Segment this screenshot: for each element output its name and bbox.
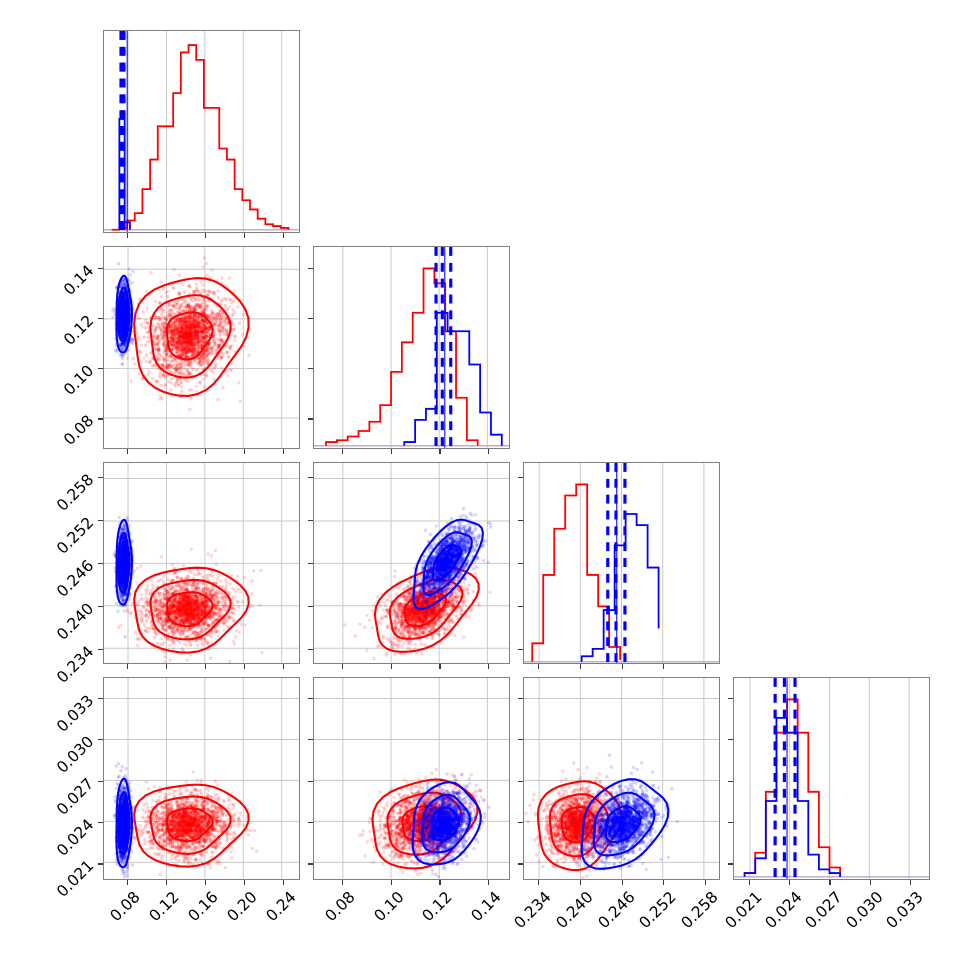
x-tick <box>205 233 206 238</box>
x-tick <box>127 449 128 454</box>
y-tick <box>98 606 103 607</box>
y-tick <box>98 477 103 478</box>
scatter-panel-r4c2 <box>313 677 510 880</box>
x-tick <box>205 880 206 885</box>
y-tick <box>308 268 313 269</box>
y-tick <box>518 477 523 478</box>
y-tick <box>308 477 313 478</box>
y-tick <box>518 822 523 823</box>
y-tick <box>308 863 313 864</box>
x-tick <box>488 880 489 885</box>
x-tick <box>244 880 245 885</box>
x-tick <box>439 449 440 454</box>
x-tick <box>391 664 392 669</box>
x-tick <box>439 664 440 669</box>
x-tick <box>283 449 284 454</box>
y-tick <box>518 563 523 564</box>
y-tick <box>728 822 733 823</box>
y-tick <box>518 606 523 607</box>
x-tick <box>391 880 392 885</box>
hist-panel-4 <box>733 677 930 880</box>
x-tick <box>538 664 539 669</box>
x-tick <box>705 880 706 885</box>
x-tick <box>166 233 167 238</box>
x-tick <box>870 880 871 885</box>
y-tick <box>308 606 313 607</box>
y-tick <box>98 781 103 782</box>
y-tick <box>308 698 313 699</box>
x-tick <box>705 664 706 669</box>
x-tick <box>342 880 343 885</box>
x-tick <box>663 880 664 885</box>
x-tick <box>439 880 440 885</box>
x-tick <box>283 664 284 669</box>
y-tick <box>98 318 103 319</box>
y-tick <box>98 739 103 740</box>
scatter-panel-r3c2 <box>313 462 510 665</box>
x-tick <box>127 233 128 238</box>
y-tick <box>308 739 313 740</box>
x-tick <box>342 449 343 454</box>
y-tick <box>308 368 313 369</box>
x-tick <box>538 880 539 885</box>
x-tick-label: 0.12 <box>401 888 456 943</box>
y-tick <box>518 863 523 864</box>
x-tick <box>244 664 245 669</box>
x-tick <box>622 880 623 885</box>
x-tick <box>127 664 128 669</box>
x-tick <box>829 880 830 885</box>
scatter-panel-r4c3 <box>523 677 720 880</box>
y-tick <box>98 649 103 650</box>
hist-panel-3 <box>523 462 720 665</box>
scatter-panel-r2c1 <box>103 246 300 449</box>
y-tick <box>728 698 733 699</box>
x-tick <box>244 449 245 454</box>
hist-panel-2 <box>313 246 510 449</box>
y-tick <box>308 520 313 521</box>
y-tick <box>518 698 523 699</box>
y-tick <box>518 739 523 740</box>
x-tick <box>622 664 623 669</box>
scatter-panel-r3c1 <box>103 462 300 665</box>
y-tick <box>308 822 313 823</box>
y-tick <box>518 520 523 521</box>
y-tick <box>308 781 313 782</box>
y-tick <box>98 698 103 699</box>
y-tick <box>308 649 313 650</box>
x-tick <box>283 233 284 238</box>
x-tick-label: 0.10 <box>352 888 407 943</box>
x-tick <box>789 880 790 885</box>
x-tick <box>910 880 911 885</box>
x-tick <box>488 664 489 669</box>
x-tick <box>580 664 581 669</box>
y-tick <box>518 649 523 650</box>
x-tick <box>488 449 489 454</box>
corner-plot-figure: 0.080.120.160.200.240.080.100.120.140.23… <box>0 0 970 970</box>
x-tick <box>166 664 167 669</box>
y-tick <box>308 418 313 419</box>
y-tick <box>98 268 103 269</box>
y-tick <box>98 520 103 521</box>
y-tick <box>98 822 103 823</box>
y-tick <box>728 739 733 740</box>
x-tick-label: 0.08 <box>304 888 359 943</box>
x-tick <box>127 880 128 885</box>
x-tick <box>283 880 284 885</box>
x-tick <box>663 664 664 669</box>
y-tick <box>98 563 103 564</box>
y-tick <box>518 781 523 782</box>
x-tick <box>205 664 206 669</box>
x-tick <box>342 664 343 669</box>
y-tick <box>308 563 313 564</box>
x-tick <box>205 449 206 454</box>
y-tick <box>98 863 103 864</box>
x-tick <box>580 880 581 885</box>
hist-panel-1 <box>103 30 300 233</box>
x-tick-label: 0.14 <box>450 888 505 943</box>
y-tick <box>728 781 733 782</box>
y-tick <box>728 863 733 864</box>
x-tick <box>244 233 245 238</box>
y-tick <box>98 418 103 419</box>
scatter-panel-r4c1 <box>103 677 300 880</box>
x-tick <box>166 880 167 885</box>
x-tick <box>749 880 750 885</box>
x-tick <box>166 449 167 454</box>
y-tick <box>98 368 103 369</box>
x-tick <box>391 449 392 454</box>
y-tick <box>308 318 313 319</box>
